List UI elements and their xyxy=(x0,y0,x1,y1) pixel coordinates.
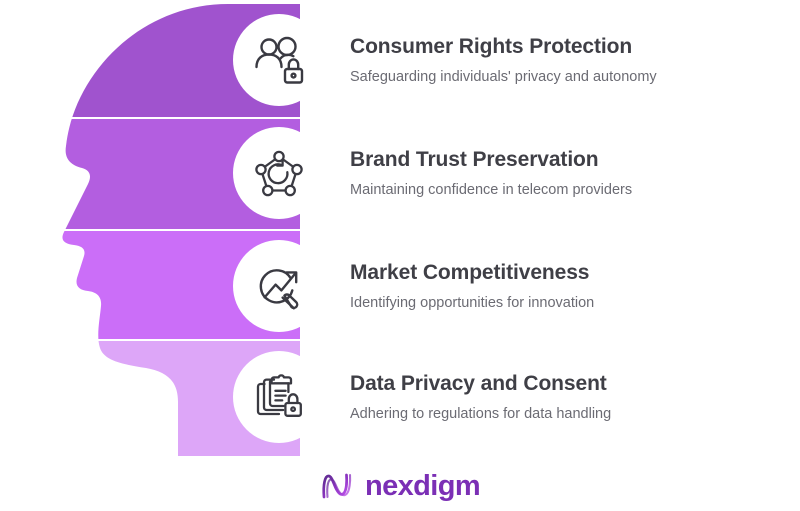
row-title: Data Privacy and Consent xyxy=(350,371,611,396)
brand-logo: nexdigm xyxy=(0,464,800,508)
magnifier-trend-arrow-icon xyxy=(236,243,322,329)
row-title: Brand Trust Preservation xyxy=(350,147,632,172)
logo-wordmark: nexdigm xyxy=(365,472,480,501)
row-title: Consumer Rights Protection xyxy=(350,34,657,59)
info-row-data-privacy-and-consent: Data Privacy and Consent Adhering to reg… xyxy=(236,345,796,449)
row-text-block: Data Privacy and Consent Adhering to reg… xyxy=(350,371,611,423)
row-text-block: Market Competitiveness Identifying oppor… xyxy=(350,260,594,312)
row-subtitle: Safeguarding individuals' privacy and au… xyxy=(350,68,657,86)
network-refresh-icon xyxy=(236,130,322,216)
infographic-canvas: Consumer Rights Protection Safeguarding … xyxy=(0,0,800,511)
info-row-brand-trust-preservation: Brand Trust Preservation Maintaining con… xyxy=(236,121,796,225)
nexdigm-n-mark-icon xyxy=(320,470,356,502)
users-lock-icon xyxy=(236,17,322,103)
row-subtitle: Identifying opportunities for innovation xyxy=(350,294,594,312)
info-row-consumer-rights-protection: Consumer Rights Protection Safeguarding … xyxy=(236,8,796,112)
row-title: Market Competitiveness xyxy=(350,260,594,285)
row-text-block: Consumer Rights Protection Safeguarding … xyxy=(350,34,657,86)
clipboard-lock-icon xyxy=(236,354,322,440)
info-row-market-competitiveness: Market Competitiveness Identifying oppor… xyxy=(236,234,796,338)
row-subtitle: Maintaining confidence in telecom provid… xyxy=(350,181,632,199)
row-subtitle: Adhering to regulations for data handlin… xyxy=(350,405,611,423)
row-text-block: Brand Trust Preservation Maintaining con… xyxy=(350,147,632,199)
